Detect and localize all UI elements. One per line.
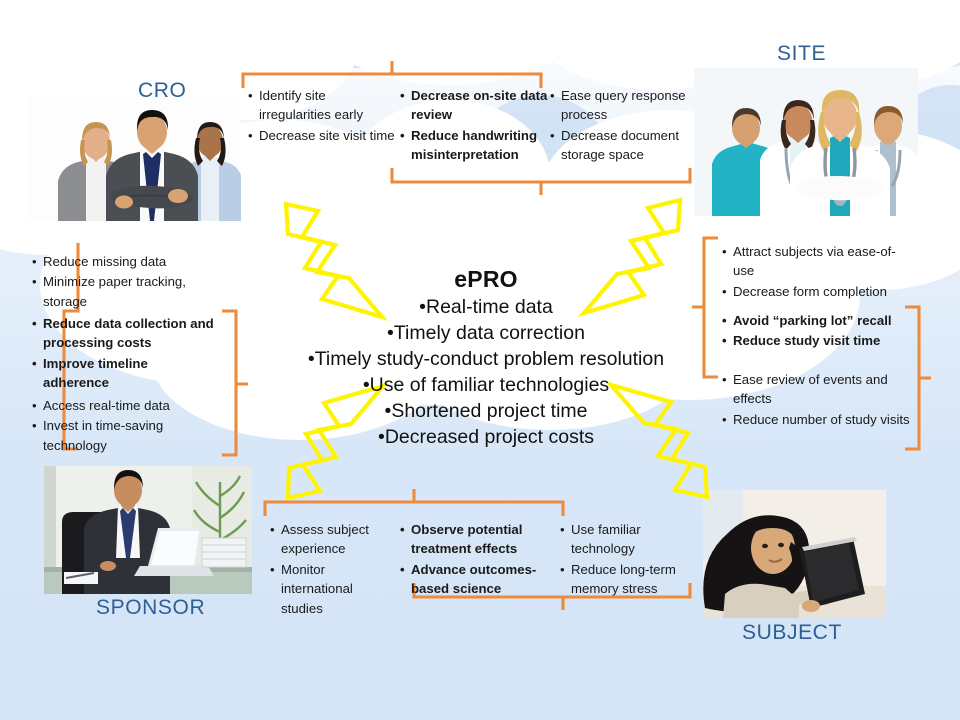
subject-column-2: •Avoid “parking lot” recall •Reduce stud… [722, 311, 907, 352]
list-item: •Minimize paper tracking, storage [32, 272, 222, 311]
cro-column-3: •Ease query response process •Decrease d… [550, 86, 695, 166]
hub-title: ePRO [276, 266, 696, 293]
diagram-canvas: CRO SITE SPONSOR SUBJECT •Identify site … [0, 0, 960, 720]
list-item: •Improve timeline adherence [32, 354, 214, 393]
list-item: •Avoid “parking lot” recall [722, 311, 907, 330]
list-item: •Access real-time data [32, 396, 222, 415]
list-item: •Advance outcomes-based science [400, 560, 552, 599]
list-item: •Identify site irregularities early [248, 86, 400, 125]
list-item: •Observe potential treatment effects [400, 520, 552, 559]
list-item: •Ease query response process [550, 86, 695, 125]
subject-column-3: •Ease review of events and effects •Redu… [722, 370, 912, 430]
list-item: •Use familiar technology [560, 520, 690, 559]
hub-bullet: •Decreased project costs [276, 425, 696, 451]
label-site: SITE [777, 42, 826, 66]
list-item: •Assess subject experience [270, 520, 398, 559]
bottom-column-1: •Assess subject experience •Monitor inte… [270, 520, 398, 619]
list-item: •Decrease site visit time [248, 126, 400, 145]
list-item: •Decrease form completion [722, 282, 912, 301]
hub-bullet: •Real-time data [276, 295, 696, 321]
list-item: •Reduce data collection and processing c… [32, 314, 214, 353]
list-item: •Invest in time-saving technology [32, 416, 222, 455]
list-item: •Reduce handwriting misinterpretation [400, 126, 555, 165]
hub-bullet: •Shortened project time [276, 399, 696, 425]
list-item: •Reduce long-term memory stress [560, 560, 690, 599]
sponsor-column-2: •Reduce data collection and processing c… [32, 314, 214, 394]
list-item: •Ease review of events and effects [722, 370, 912, 409]
bottom-column-3: •Use familiar technology •Reduce long-te… [560, 520, 690, 600]
sponsor-column-1: •Reduce missing data •Minimize paper tra… [32, 252, 222, 312]
label-sponsor: SPONSOR [96, 596, 205, 620]
label-cro: CRO [138, 79, 186, 103]
subject-column-1: •Attract subjects via ease-of-use •Decre… [722, 242, 912, 302]
cro-column-1: •Identify site irregularities early •Dec… [248, 86, 400, 146]
list-item: •Decrease on-site data review [400, 86, 555, 125]
list-item: •Reduce number of study visits [722, 410, 912, 429]
list-item: •Decrease document storage space [550, 126, 695, 165]
label-subject: SUBJECT [742, 621, 842, 645]
list-item: •Attract subjects via ease-of-use [722, 242, 912, 281]
hub-bullet: •Timely study-conduct problem resolution [276, 347, 696, 373]
center-hub: ePRO •Real-time data •Timely data correc… [276, 266, 696, 451]
list-item: •Reduce missing data [32, 252, 222, 271]
hub-bullet: •Use of familiar technologies [276, 373, 696, 399]
sponsor-column-3: •Access real-time data •Invest in time-s… [32, 396, 222, 456]
cro-column-2: •Decrease on-site data review •Reduce ha… [400, 86, 555, 166]
bottom-column-2: •Observe potential treatment effects •Ad… [400, 520, 552, 600]
hub-bullet: •Timely data correction [276, 321, 696, 347]
list-item: •Monitor international studies [270, 560, 398, 618]
list-item: •Reduce study visit time [722, 331, 907, 350]
